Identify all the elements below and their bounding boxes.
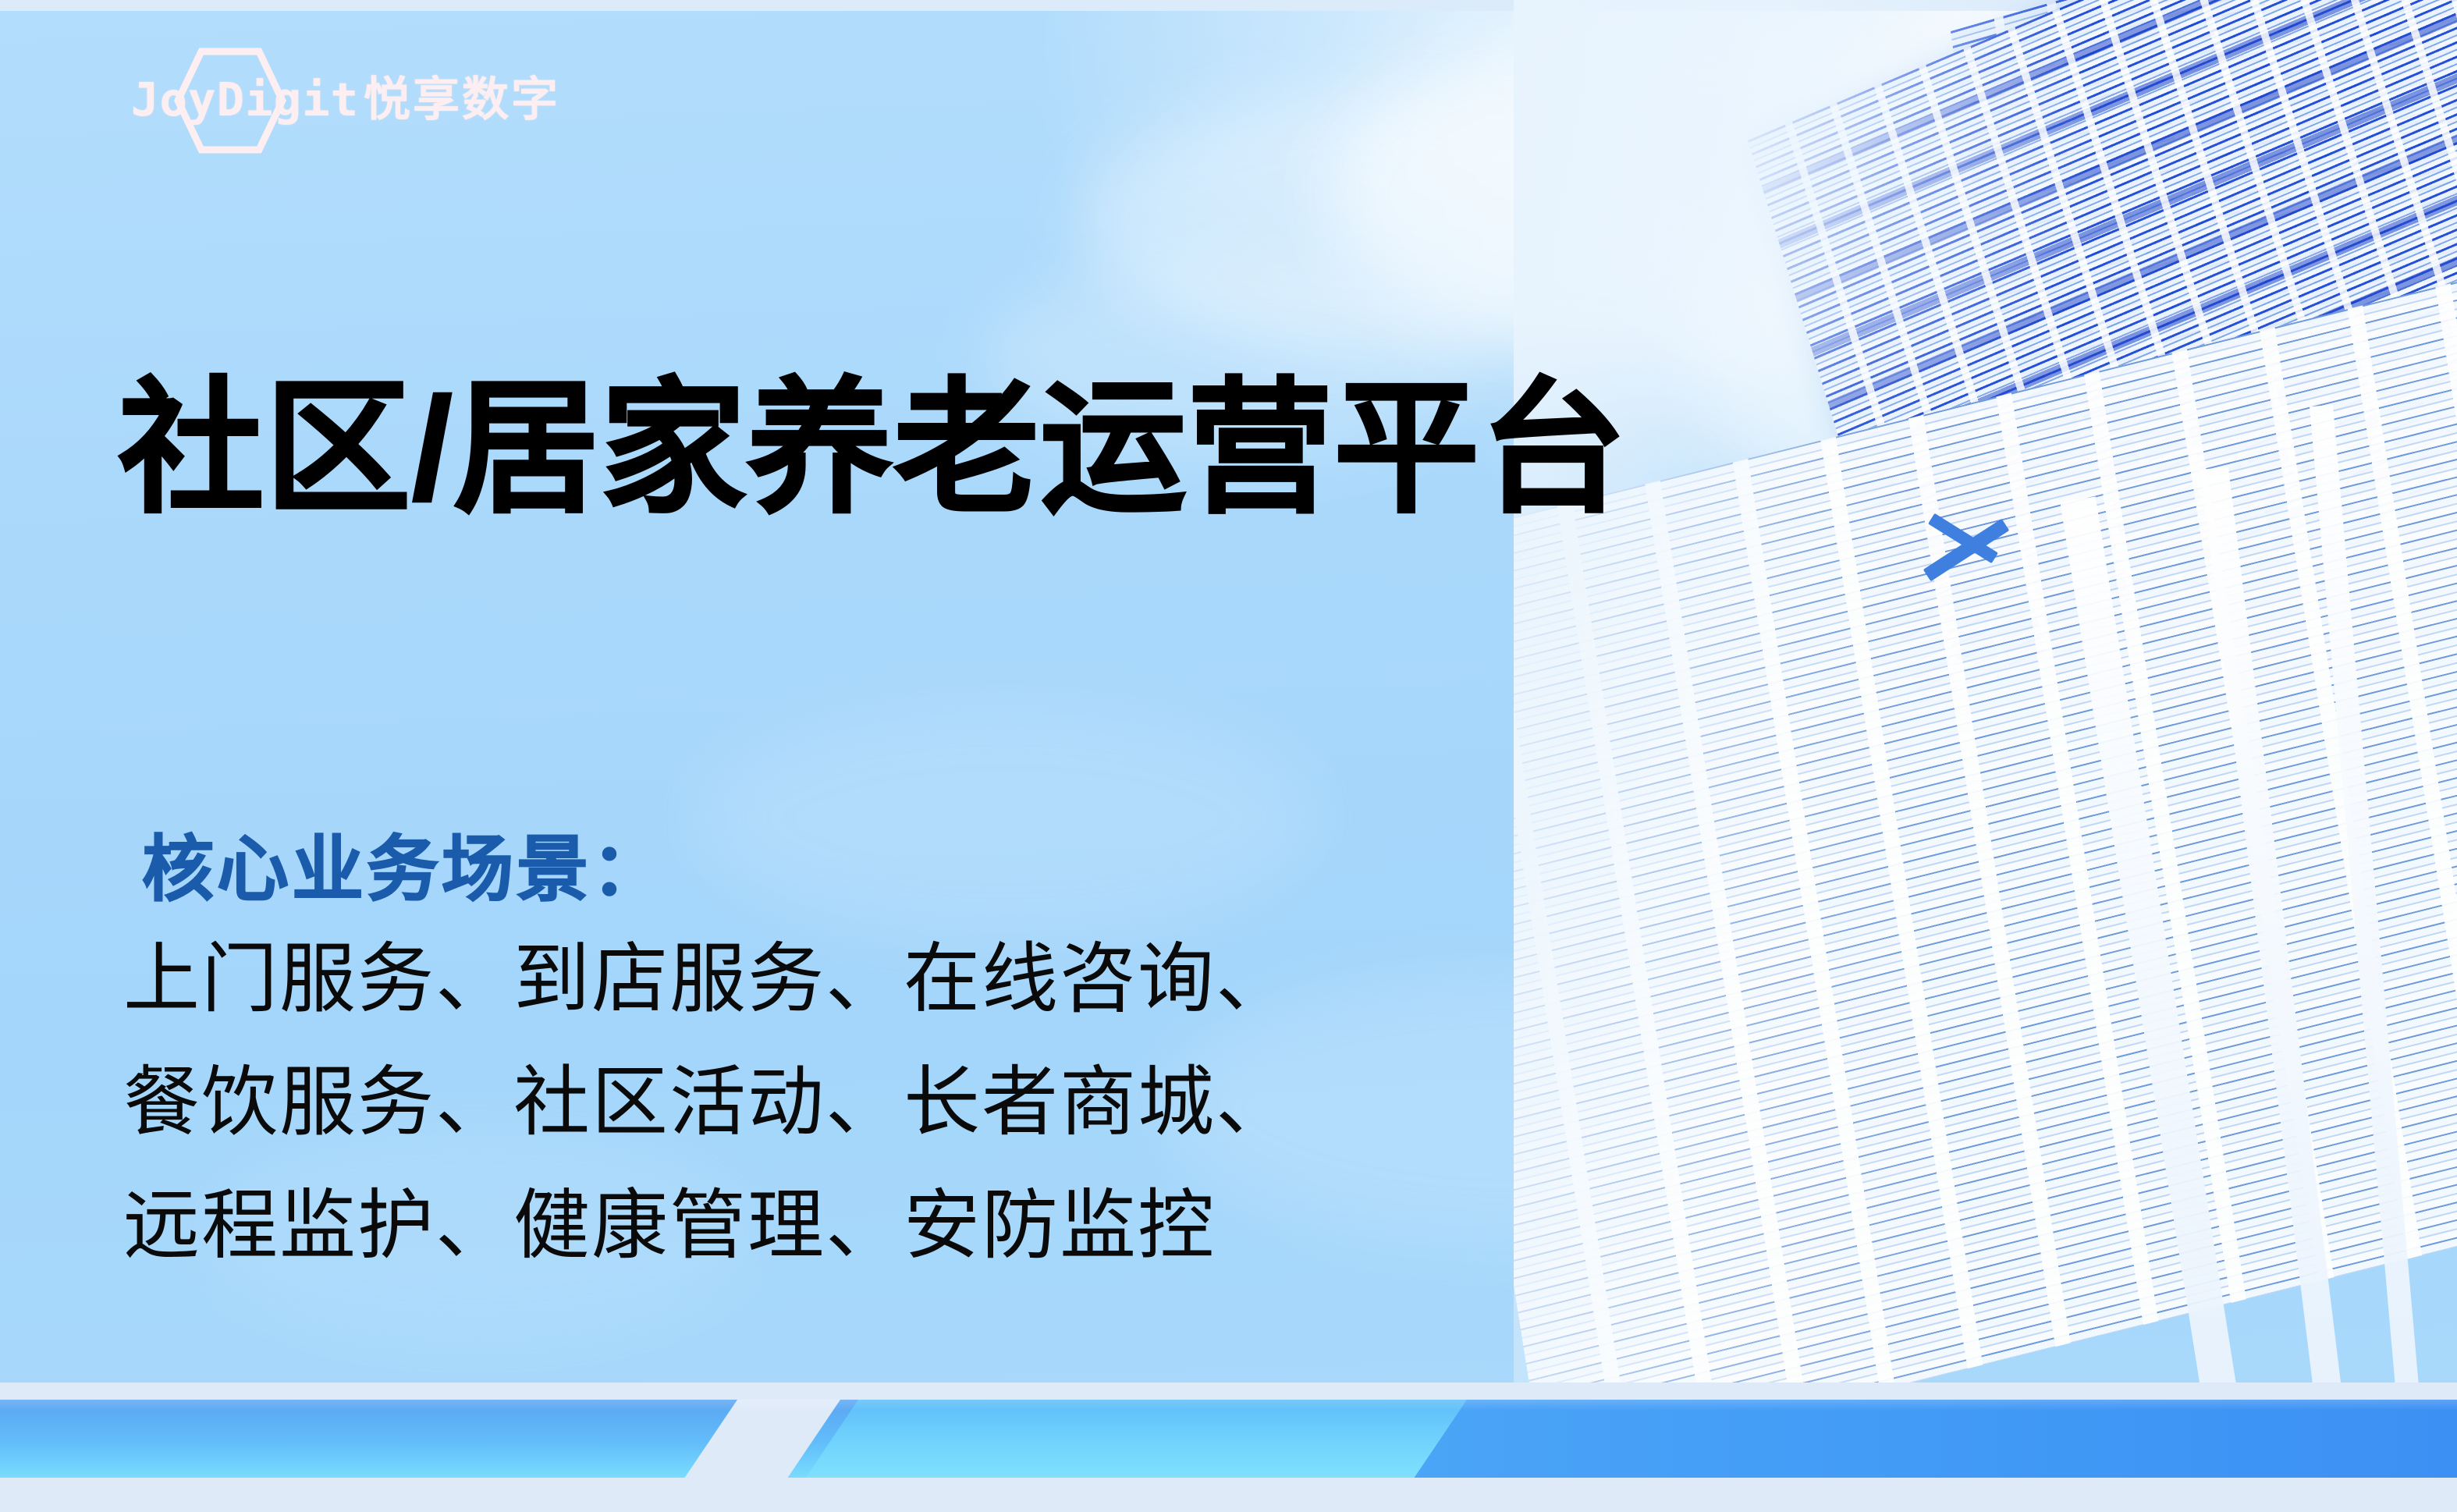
scenario-line: 上门服务、到店服务、在线咨询、 <box>123 917 1294 1040</box>
brand-logo[interactable]: JoyDigit 悦享数字 <box>131 67 560 133</box>
logo-chinese-text: 悦享数字 <box>364 67 560 133</box>
roof-chevron-icon <box>1919 515 2029 609</box>
cloud-wisp <box>702 702 1311 936</box>
scenario-list: 上门服务、到店服务、在线咨询、 餐饮服务、社区活动、长者商城、 远程监护、健康管… <box>123 917 1294 1287</box>
banner-shape-mid <box>775 1400 1467 1478</box>
section-label: 核心业务场景： <box>142 822 666 917</box>
slide-root: JoyDigit 悦享数字 社区/居家养老运营平台 核心业务场景： 上门服务、到… <box>0 0 2457 1512</box>
banner-sheen <box>0 1400 2457 1411</box>
skyscraper-artwork <box>1514 0 2457 1397</box>
page-title: 社区/居家养老运营平台 <box>119 360 1628 539</box>
logo-latin-text: JoyDigit <box>131 72 359 128</box>
scenario-line: 远程监护、健康管理、安防监控 <box>123 1163 1294 1287</box>
scenario-line: 餐饮服务、社区活动、长者商城、 <box>123 1040 1294 1163</box>
bottom-banner <box>0 1382 2457 1512</box>
logo-mark: JoyDigit <box>131 67 346 133</box>
